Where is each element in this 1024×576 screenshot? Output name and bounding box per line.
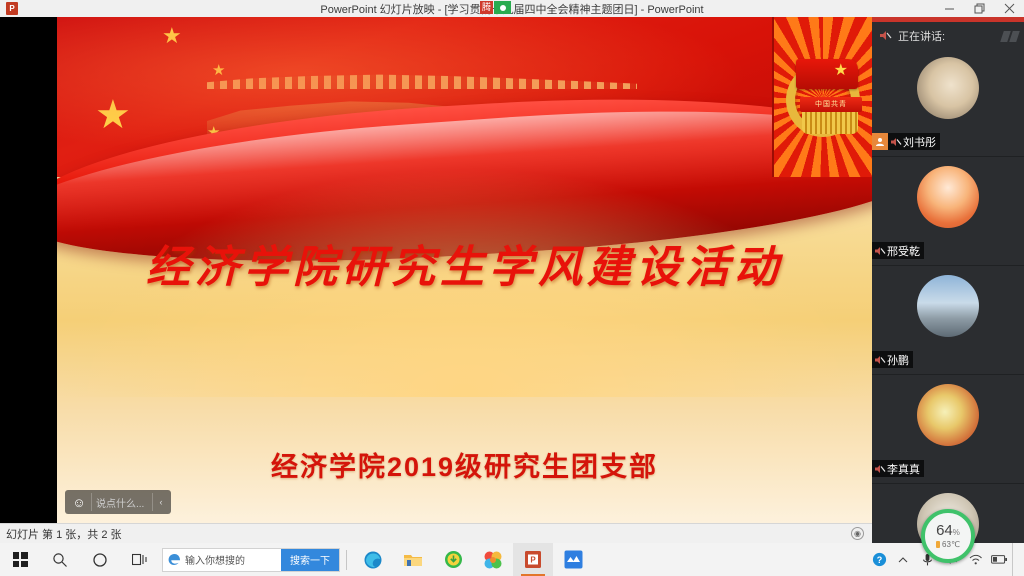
emoji-icon[interactable]: ☺: [67, 490, 91, 514]
sidebar-header: 正在讲话:: [872, 22, 1024, 49]
show-desktop-button[interactable]: [1012, 543, 1018, 576]
youth-league-emblem-panel: ★ 中国共青: [772, 17, 872, 177]
participant-name: 刘书彤: [903, 134, 936, 150]
battery-widget[interactable]: 64% 63℃: [921, 509, 975, 563]
slide-counter: 幻灯片 第 1 张，共 2 张: [6, 526, 122, 542]
search-submit-button[interactable]: 搜索一下: [281, 549, 339, 571]
meeting-overlay-badge: 腾: [480, 1, 511, 14]
wps-flower-icon[interactable]: [473, 543, 513, 576]
speaker-mute-icon: [879, 29, 892, 42]
window-title-text: PowerPoint 幻灯片放映 - [学习贯彻十九届四中全会精神主题团日] -…: [320, 4, 703, 16]
emblem-band-text: 中国共青: [800, 97, 862, 112]
file-explorer-icon[interactable]: [393, 543, 433, 576]
pointer-options-icon[interactable]: ◉: [851, 527, 864, 540]
avatar: [917, 384, 979, 446]
mic-muted-icon: [872, 242, 887, 259]
slide-subtitle: 经济学院2019级研究生团支部: [57, 445, 872, 484]
blue-app-icon[interactable]: [553, 543, 593, 576]
green-download-icon[interactable]: [433, 543, 473, 576]
search-icon[interactable]: [40, 543, 80, 576]
cortana-circle-icon[interactable]: [80, 543, 120, 576]
battery-icon[interactable]: [988, 543, 1010, 576]
avatar: [917, 57, 979, 119]
thermometer-icon: [936, 541, 940, 548]
participant-name: 李真真: [887, 461, 920, 477]
flag-star-icon: ★: [95, 95, 131, 135]
taskbar-divider: [346, 550, 347, 570]
windows-start-icon[interactable]: [0, 543, 40, 576]
participant-name: 孙鹏: [887, 352, 909, 368]
participant-name: 邢受乾: [887, 243, 920, 259]
participant-name-chip: 孙鹏: [872, 351, 913, 368]
participant-tile[interactable]: 邢受乾: [872, 158, 1024, 266]
meeting-badge-label: 腾: [480, 1, 493, 14]
window-controls: [934, 0, 1024, 17]
participant-name-chip: 邢受乾: [872, 242, 924, 259]
battery-percent: 64%: [936, 523, 960, 538]
powerpoint-icon[interactable]: P: [513, 543, 553, 576]
host-badge-icon: [872, 133, 888, 150]
record-dot-icon: [494, 1, 511, 14]
window-titlebar: P PowerPoint 幻灯片放映 - [学习贯彻十九届四中全会精神主题团日]…: [0, 0, 1024, 17]
battery-percent-value: 64: [936, 522, 953, 539]
slideshow-stage[interactable]: ★ ★ ★ ★ ★ ★ 中国共青 经济学院研究生学风建设活动 经济学院2019级…: [0, 17, 872, 523]
minimize-icon[interactable]: [934, 0, 964, 17]
svg-text:?: ?: [876, 555, 882, 565]
search-input[interactable]: 输入你想搜的: [185, 552, 281, 567]
svg-text:P: P: [530, 556, 536, 565]
status-bar: 幻灯片 第 1 张，共 2 张 ◉: [0, 523, 872, 543]
chevron-left-icon[interactable]: ‹: [153, 490, 169, 514]
window-title: PowerPoint 幻灯片放映 - [学习贯彻十九届四中全会精神主题团日] -…: [0, 1, 1024, 17]
participant-name-chip: 李真真: [872, 460, 924, 477]
restore-icon[interactable]: [964, 0, 994, 17]
edge-legacy-icon: [163, 549, 185, 571]
meeting-chat-bar[interactable]: ☺ 说点什么... ‹: [65, 490, 171, 514]
resize-grip-icon[interactable]: [1002, 31, 1018, 42]
meeting-sidebar: 正在讲话: 刘书彤: [872, 17, 1024, 576]
mic-muted-icon: [872, 460, 887, 477]
slide-canvas: ★ ★ ★ ★ ★ ★ 中国共青 经济学院研究生学风建设活动 经济学院2019级…: [57, 17, 872, 523]
chevron-up-icon[interactable]: [892, 543, 914, 576]
mic-muted-icon: [888, 133, 903, 150]
avatar: [917, 275, 979, 337]
task-view-icon[interactable]: [120, 543, 160, 576]
participant-tile[interactable]: 李真真: [872, 376, 1024, 484]
chat-input[interactable]: 说点什么...: [91, 493, 153, 511]
battery-percent-unit: %: [953, 528, 960, 537]
close-icon[interactable]: [994, 0, 1024, 17]
sidebar-header-label: 正在讲话:: [898, 28, 945, 44]
great-wall-icon: [207, 65, 637, 89]
participant-tile[interactable]: 孙鹏: [872, 267, 1024, 375]
battery-temperature-value: 63℃: [942, 540, 960, 549]
help-icon[interactable]: ?: [868, 543, 890, 576]
participant-tile[interactable]: 刘书彤: [872, 49, 1024, 157]
search-box[interactable]: 输入你想搜的 搜索一下: [162, 548, 340, 572]
mic-muted-icon: [872, 351, 887, 368]
windows-taskbar: 输入你想搜的 搜索一下: [0, 543, 1024, 576]
avatar: [917, 166, 979, 228]
slide-title: 经济学院研究生学风建设活动: [57, 231, 872, 295]
edge-icon[interactable]: [353, 543, 393, 576]
participant-name-chip: 刘书彤: [872, 133, 940, 150]
screen: P PowerPoint 幻灯片放映 - [学习贯彻十九届四中全会精神主题团日]…: [0, 0, 1024, 576]
flag-star-icon: ★: [162, 25, 182, 47]
youth-league-emblem-icon: ★ 中国共青: [780, 57, 866, 143]
battery-temperature: 63℃: [936, 540, 960, 549]
flag-star-icon: ★: [212, 63, 225, 78]
